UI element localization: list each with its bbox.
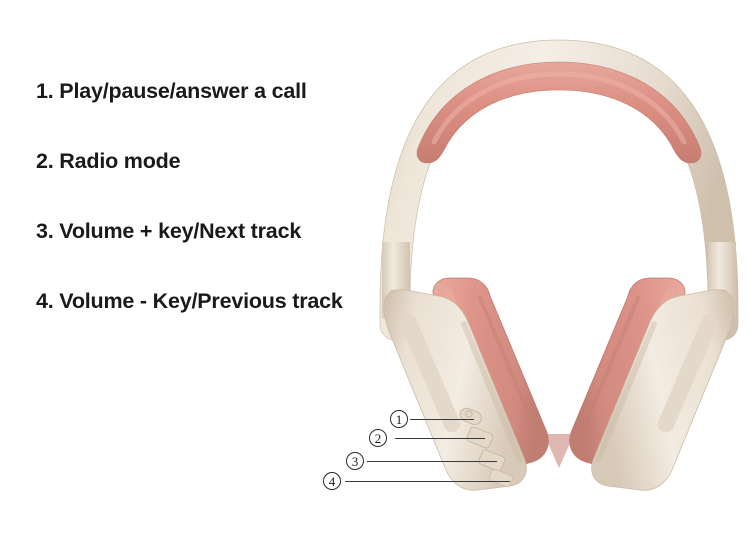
list-item: 1. Play/pause/answer a call xyxy=(36,78,386,148)
instruction-list: 1. Play/pause/answer a call 2. Radio mod… xyxy=(36,78,386,358)
instruction-text-1: 1. Play/pause/answer a call xyxy=(36,79,307,103)
callout-marker-1[interactable]: 1 xyxy=(390,410,408,428)
list-item: 2. Radio mode xyxy=(36,148,386,218)
cushion-v-notch-shadow xyxy=(544,434,574,468)
instruction-text-4: 4. Volume - Key/Previous track xyxy=(36,289,343,313)
list-item: 4. Volume - Key/Previous track xyxy=(36,288,386,358)
headphones-illustration xyxy=(368,6,750,516)
instruction-illustration-page: 1. Play/pause/answer a call 2. Radio mod… xyxy=(0,0,750,540)
callout-marker-2[interactable]: 2 xyxy=(369,429,387,447)
callout-leader-line-3 xyxy=(367,461,497,462)
instruction-text-2: 2. Radio mode xyxy=(36,149,180,173)
list-item: 3. Volume + key/Next track xyxy=(36,218,386,288)
callout-marker-3[interactable]: 3 xyxy=(346,452,364,470)
callout-marker-4[interactable]: 4 xyxy=(323,472,341,490)
callout-leader-line-4 xyxy=(345,481,510,482)
callout-leader-line-2 xyxy=(395,438,485,439)
instruction-text-3: 3. Volume + key/Next track xyxy=(36,219,301,243)
headphones-product-image xyxy=(368,6,750,516)
callout-leader-line-1 xyxy=(410,419,474,420)
